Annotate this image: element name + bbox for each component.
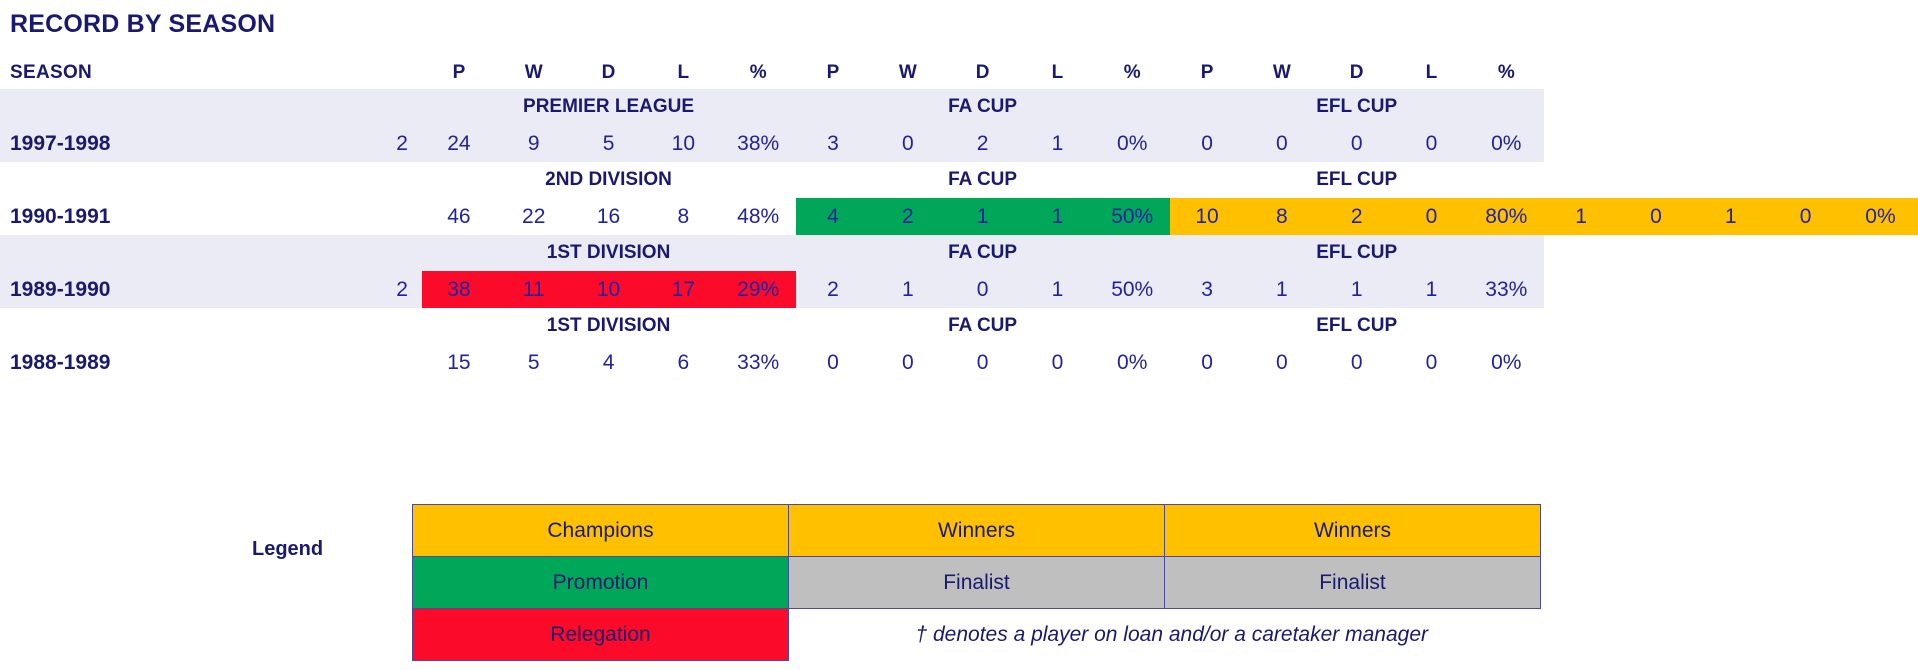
- stat-cell: 80%: [1469, 198, 1544, 235]
- competition-row-overflow: [1544, 235, 1918, 271]
- stat-cell: 1: [1020, 271, 1095, 308]
- stat-cell: 1: [1319, 271, 1394, 308]
- legend-swatch-red: Relegation: [413, 609, 789, 661]
- stat-cell: 1: [1020, 198, 1095, 235]
- legend-note: † denotes a player on loan and/or a care…: [789, 609, 1541, 661]
- stat-cell-empty: [1544, 271, 1619, 308]
- competition-label: 1ST DIVISION: [422, 235, 796, 271]
- stat-cell: 38: [422, 271, 497, 308]
- stat-cell: 24: [422, 125, 497, 162]
- stat-cell: 8: [646, 198, 721, 235]
- stat-cell: 3: [796, 125, 871, 162]
- column-header-d-12: D: [1319, 57, 1394, 89]
- stat-cell: 1: [1693, 198, 1768, 235]
- stat-cell: 5: [496, 344, 571, 381]
- season-footnote-marker: 2: [387, 125, 422, 162]
- stat-cell: 0%: [1469, 344, 1544, 381]
- competition-label: EFL CUP: [1170, 89, 1544, 125]
- competition-label: PREMIER LEAGUE: [422, 89, 796, 125]
- season-label: 1988-1989: [0, 344, 387, 381]
- competition-label: FA CUP: [796, 235, 1170, 271]
- competition-label: FA CUP: [796, 162, 1170, 198]
- stat-cell: 1: [945, 198, 1020, 235]
- column-header-spacer: [1619, 57, 1694, 89]
- stat-cell: 2: [1319, 198, 1394, 235]
- competition-label: 1ST DIVISION: [422, 308, 796, 344]
- stat-cell: 16: [571, 198, 646, 235]
- stat-cell-empty: [1693, 344, 1768, 381]
- stat-cell: 6: [646, 344, 721, 381]
- legend-row: Relegation† denotes a player on loan and…: [413, 609, 1541, 661]
- stat-cell: 0%: [1095, 125, 1170, 162]
- competition-row-spacer: [0, 308, 422, 344]
- stat-cell-empty: [1544, 344, 1619, 381]
- stat-cell: 4: [796, 198, 871, 235]
- column-header-w-11: W: [1244, 57, 1319, 89]
- legend-table: ChampionsWinnersWinnersPromotionFinalist…: [412, 504, 1541, 661]
- stat-cell: 10: [1170, 198, 1245, 235]
- stat-cell: 33%: [1469, 271, 1544, 308]
- stat-cell: 3: [1170, 271, 1245, 308]
- table-row: 1997-1998224951038%30210%00000%: [0, 125, 1918, 162]
- stat-cell-empty: [1619, 271, 1694, 308]
- competition-label: FA CUP: [796, 308, 1170, 344]
- legend-swatch-gold: Winners: [1165, 505, 1541, 557]
- column-header-p-10: P: [1170, 57, 1245, 89]
- competition-label: EFL CUP: [1170, 308, 1544, 344]
- stat-cell: 48%: [721, 198, 796, 235]
- stat-cell: 50%: [1095, 198, 1170, 235]
- table-header-row: SEASONPWDL%PWDL%PWDL%: [0, 57, 1918, 89]
- column-header-w-1: W: [496, 57, 571, 89]
- stat-cell: 11: [496, 271, 571, 308]
- table-row: 1988-19891554633%00000%00000%: [0, 344, 1918, 381]
- competition-label: EFL CUP: [1170, 162, 1544, 198]
- stat-cell: 0%: [1469, 125, 1544, 162]
- stat-cell: 10: [571, 271, 646, 308]
- competition-label: 2ND DIVISION: [422, 162, 796, 198]
- stat-cell: 1: [1020, 125, 1095, 162]
- stat-cell: 1: [1394, 271, 1469, 308]
- season-footnote-marker: [387, 198, 422, 235]
- competition-row-overflow: [1544, 89, 1918, 125]
- stat-cell: 9: [496, 125, 571, 162]
- stat-cell: 50%: [1095, 271, 1170, 308]
- column-header-spacer: [1544, 57, 1619, 89]
- column-header-p-0: P: [422, 57, 497, 89]
- legend-swatch-gold: Champions: [413, 505, 789, 557]
- stat-cell: 1: [1244, 271, 1319, 308]
- competition-row-spacer: [0, 89, 422, 125]
- competition-row-overflow: [1544, 162, 1918, 198]
- stat-cell: 8: [1244, 198, 1319, 235]
- stat-cell: 0: [1020, 344, 1095, 381]
- stat-cell-empty: [1843, 271, 1918, 308]
- column-header-pct-4: %: [721, 57, 796, 89]
- legend-label: Legend: [252, 538, 323, 561]
- legend-row: ChampionsWinnersWinners: [413, 505, 1541, 557]
- column-header-spacer: [1693, 57, 1768, 89]
- season-label: 1997-1998: [0, 125, 387, 162]
- stat-cell: 15: [422, 344, 497, 381]
- stat-cell: 4: [571, 344, 646, 381]
- record-by-season-table: SEASONPWDL%PWDL%PWDL%PREMIER LEAGUEFA CU…: [0, 57, 1918, 381]
- competition-row-overflow: [1544, 308, 1918, 344]
- record-by-season-page: RECORD BY SEASON SEASONPWDL%PWDL%PWDL%PR…: [0, 0, 1918, 670]
- stat-cell: 2: [945, 125, 1020, 162]
- competition-label-row: PREMIER LEAGUEFA CUPEFL CUP: [0, 89, 1918, 125]
- stat-cell: 0: [1394, 344, 1469, 381]
- stat-cell-empty: [1619, 344, 1694, 381]
- season-footnote-marker: 2: [387, 271, 422, 308]
- stat-cell: 1: [870, 271, 945, 308]
- column-header-l-8: L: [1020, 57, 1095, 89]
- stat-cell: 0: [1768, 198, 1843, 235]
- stat-cell: 0: [1319, 344, 1394, 381]
- stat-cell-empty: [1843, 344, 1918, 381]
- stat-cell-empty: [1768, 125, 1843, 162]
- legend-swatch-green: Promotion: [413, 557, 789, 609]
- stat-cell: 0: [1170, 344, 1245, 381]
- competition-row-spacer: [0, 162, 422, 198]
- column-header-spacer: [1768, 57, 1843, 89]
- column-header-d-2: D: [571, 57, 646, 89]
- stat-cell: 0: [1394, 125, 1469, 162]
- stat-cell-empty: [1843, 125, 1918, 162]
- stat-cell: 0: [1244, 125, 1319, 162]
- stat-cell: 0: [1319, 125, 1394, 162]
- legend-swatch-gold: Winners: [789, 505, 1165, 557]
- stat-cell: 0: [870, 344, 945, 381]
- column-header-spacer: [1843, 57, 1918, 89]
- stat-cell: 0: [1619, 198, 1694, 235]
- legend-swatch-grey: Finalist: [1165, 557, 1541, 609]
- stat-cell: 5: [571, 125, 646, 162]
- column-header-pct-14: %: [1469, 57, 1544, 89]
- table-row: 1989-199023811101729%210150%311133%: [0, 271, 1918, 308]
- season-footnote-marker: [387, 344, 422, 381]
- season-label: 1990-1991: [0, 198, 387, 235]
- stat-cell-empty: [1544, 125, 1619, 162]
- column-header-l-13: L: [1394, 57, 1469, 89]
- competition-label-row: 1ST DIVISIONFA CUPEFL CUP: [0, 308, 1918, 344]
- stat-cell-empty: [1768, 344, 1843, 381]
- stat-cell-empty: [1619, 125, 1694, 162]
- stat-cell: 0: [945, 344, 1020, 381]
- stat-cell: 2: [796, 271, 871, 308]
- page-title: RECORD BY SEASON: [10, 10, 275, 39]
- competition-row-spacer: [0, 235, 422, 271]
- stat-cell: 1: [1544, 198, 1619, 235]
- column-header-season: SEASON: [0, 57, 422, 89]
- stat-cell: 38%: [721, 125, 796, 162]
- stat-cell: 33%: [721, 344, 796, 381]
- column-header-w-6: W: [870, 57, 945, 89]
- stat-cell-empty: [1768, 271, 1843, 308]
- stat-cell: 0: [870, 125, 945, 162]
- stat-cell: 29%: [721, 271, 796, 308]
- stat-cell: 17: [646, 271, 721, 308]
- stat-cell: 2: [870, 198, 945, 235]
- stat-cell: 0: [1170, 125, 1245, 162]
- table-row: 1990-1991462216848%421150%1082080%10100%: [0, 198, 1918, 235]
- stat-cell: 0%: [1843, 198, 1918, 235]
- stat-cell-empty: [1693, 125, 1768, 162]
- column-header-l-3: L: [646, 57, 721, 89]
- stat-cell: 0: [945, 271, 1020, 308]
- stat-cell: 0%: [1095, 344, 1170, 381]
- competition-label-row: 2ND DIVISIONFA CUPEFL CUP: [0, 162, 1918, 198]
- legend-swatch-grey: Finalist: [789, 557, 1165, 609]
- column-header-pct-9: %: [1095, 57, 1170, 89]
- competition-label: EFL CUP: [1170, 235, 1544, 271]
- stat-cell: 0: [1244, 344, 1319, 381]
- stat-cell: 0: [1394, 198, 1469, 235]
- column-header-d-7: D: [945, 57, 1020, 89]
- competition-label: FA CUP: [796, 89, 1170, 125]
- stat-cell-empty: [1693, 271, 1768, 308]
- stat-cell: 0: [796, 344, 871, 381]
- stat-cell: 10: [646, 125, 721, 162]
- competition-label-row: 1ST DIVISIONFA CUPEFL CUP: [0, 235, 1918, 271]
- legend-row: PromotionFinalistFinalist: [413, 557, 1541, 609]
- stat-cell: 22: [496, 198, 571, 235]
- stat-cell: 46: [422, 198, 497, 235]
- column-header-p-5: P: [796, 57, 871, 89]
- season-label: 1989-1990: [0, 271, 387, 308]
